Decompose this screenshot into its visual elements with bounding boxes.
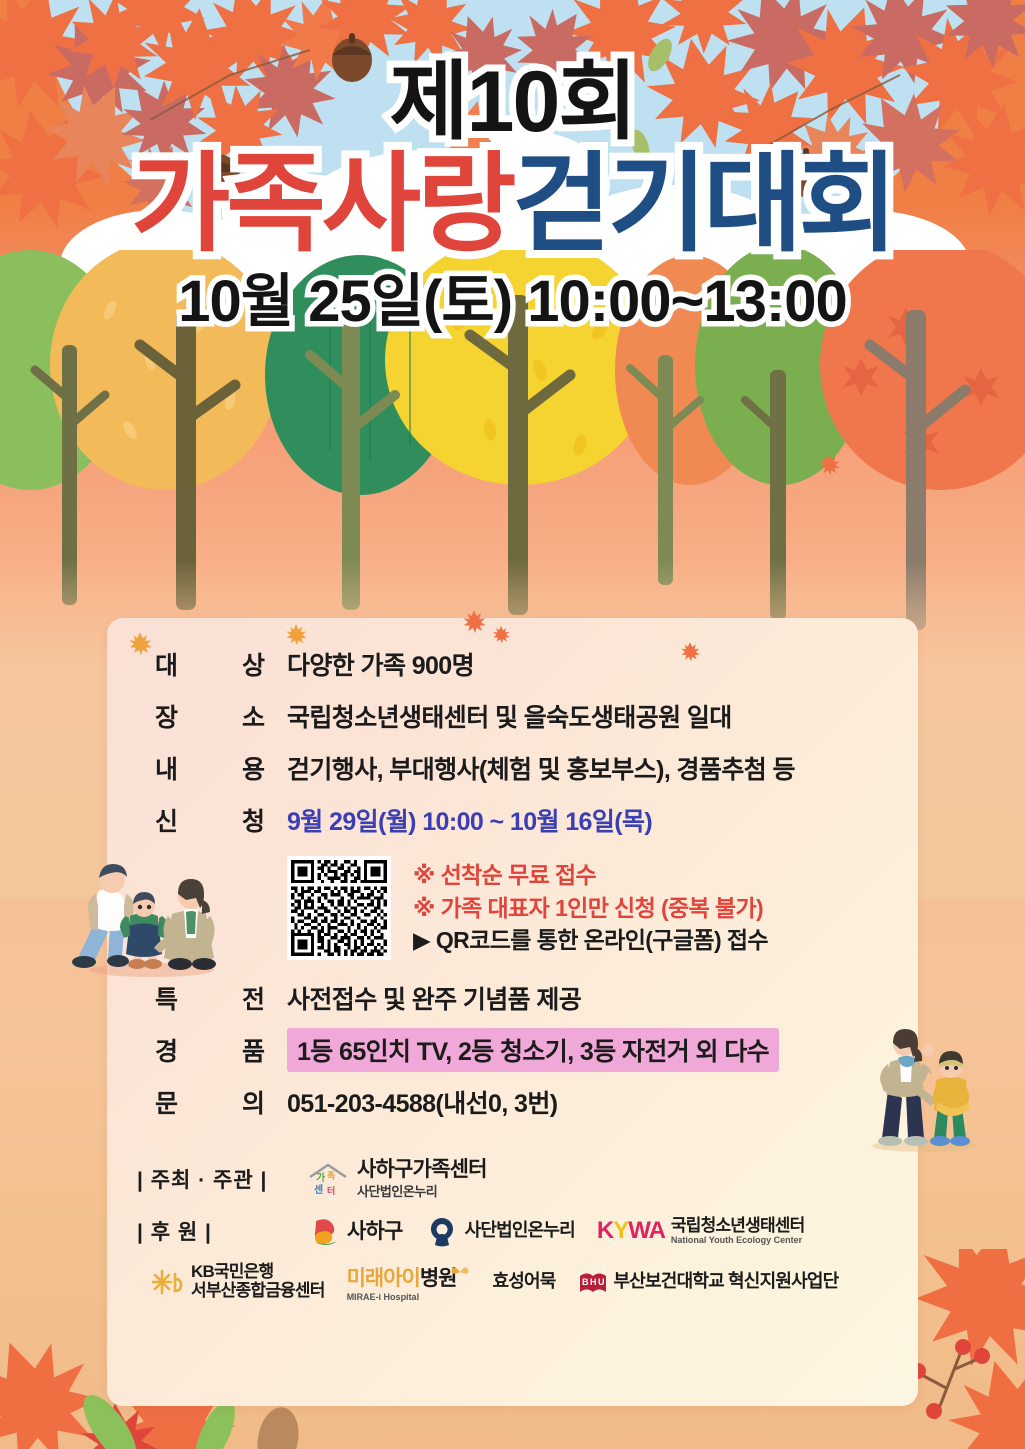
qr-note-item: ▶ QR코드를 통한 온라인(구글폼) 접수 xyxy=(413,924,768,957)
logo-name: 부산보건대학교 혁신지원사업단 xyxy=(614,1272,839,1292)
support-tag-label: | 후 원 | xyxy=(137,1216,307,1246)
info-row-target: 대 상 다양한 가족 900명 xyxy=(137,642,897,686)
label-char-a: 장 xyxy=(155,698,178,734)
sponsor-section: | 주최 · 주관 | 가 족 센 터 사하구가족센터 사단법인온누리 xyxy=(137,1158,897,1316)
qr-code[interactable] xyxy=(287,856,391,960)
logo-subname-en: National Youth Ecology Center xyxy=(671,1235,805,1245)
qr-notes: ※ 선착순 무료 접수 ※ 가족 대표자 1인만 신청 (중복 불가) ▶ QR… xyxy=(413,859,768,957)
logo-name: 사하구가족센터 xyxy=(357,1158,487,1181)
label-char-b: 의 xyxy=(242,1084,265,1120)
qr-registration-block: ※ 선착순 무료 접수 ※ 가족 대표자 1인만 신청 (중복 불가) ▶ QR… xyxy=(287,856,897,960)
bhu-logo-icon: B H U xyxy=(578,1268,608,1296)
qr-note-text: 가족 대표자 1인만 신청 (중복 불가) xyxy=(441,895,764,921)
title-main-part2: 걷기대회 xyxy=(513,143,894,264)
logo-sahagu-family-center: 가 족 센 터 사하구가족센터 사단법인온누리 xyxy=(307,1158,487,1200)
logo-name: KB국민은행 xyxy=(191,1263,325,1282)
logo-kywa: KYWA 국립청소년생태센터 National Youth Ecology Ce… xyxy=(597,1217,805,1246)
info-row-value: 걷기행사, 부대행사(체험 및 홍보부스), 경품추첨 등 xyxy=(287,750,795,786)
logo-subname-en: MIRAE-i Hospital xyxy=(347,1292,457,1302)
onnuri-logo-icon xyxy=(425,1214,459,1248)
svg-text:U: U xyxy=(598,1277,605,1287)
support-row-2: KB국민은행 서부산종합금융센터 미래아이병원 MIRAE-i Hospital xyxy=(151,1262,897,1302)
logo-name: 미래아이병원 xyxy=(347,1262,457,1292)
info-row-label: 특 전 xyxy=(137,980,287,1016)
logo-kb-bank: KB국민은행 서부산종합금융센터 xyxy=(151,1263,325,1300)
info-row-label: 문 의 xyxy=(137,1084,287,1120)
logo-name: 사하구 xyxy=(347,1220,403,1243)
info-row-benefit: 특 전 사전접수 및 완주 기념품 제공 xyxy=(137,976,897,1020)
title-main: 가족사랑걷기대회 xyxy=(0,150,1025,258)
label-char-b: 전 xyxy=(242,980,265,1016)
info-row-value: 국립청소년생태센터 및 을숙도생태공원 일대 xyxy=(287,698,732,734)
asterisk-mark-icon: ※ xyxy=(413,862,435,888)
house-logo-icon: 가 족 센 터 xyxy=(307,1162,349,1196)
info-row-label: 신 청 xyxy=(137,802,287,838)
label-char-b: 용 xyxy=(242,750,265,786)
label-char-b: 품 xyxy=(242,1032,265,1068)
label-char-b: 소 xyxy=(242,698,265,734)
triangle-right-icon: ▶ xyxy=(413,927,430,953)
svg-text:터: 터 xyxy=(327,1185,335,1196)
info-row-value: 051-203-4588(내선0, 3번) xyxy=(287,1084,557,1120)
info-row-prize: 경 품 1등 65인치 TV, 2등 청소기, 3등 자전거 외 다수 xyxy=(137,1028,897,1072)
svg-text:H: H xyxy=(590,1277,597,1287)
svg-text:족: 족 xyxy=(327,1171,335,1181)
label-char-a: 경 xyxy=(155,1032,178,1068)
logo-subname: 사단법인온누리 xyxy=(357,1181,487,1200)
info-rows: 대 상 다양한 가족 900명 장 소 국립청소년생태센터 및 을숙도생태공원 … xyxy=(137,642,897,1132)
info-row-value: 사전접수 및 완주 기념품 제공 xyxy=(287,980,581,1016)
event-date-time: 10월 25일(토) 10:00~13:00 xyxy=(0,272,1025,333)
logo-name: 효성어묵 xyxy=(492,1272,555,1292)
label-char-a: 특 xyxy=(155,980,178,1016)
logo-onnuri: 사단법인온누리 xyxy=(425,1214,575,1248)
qr-code-icon xyxy=(291,860,387,956)
poster-headline: 제10회 가족사랑걷기대회 10월 25일(토) 10:00~13:00 xyxy=(0,0,1025,333)
info-row-content: 내 용 걷기행사, 부대행사(체험 및 홍보부스), 경품추첨 등 xyxy=(137,746,897,790)
label-char-a: 내 xyxy=(155,750,178,786)
butterfly-icon xyxy=(450,1262,470,1282)
support-row-1: | 후 원 | 사하구 사단법인온누리 xyxy=(137,1214,897,1248)
poster-root: 제10회 가족사랑걷기대회 10월 25일(토) 10:00~13:00 xyxy=(0,0,1025,1449)
kb-logo-icon xyxy=(151,1267,185,1297)
qr-note-item: ※ 선착순 무료 접수 xyxy=(413,859,768,892)
info-row-value: 9월 29일(월) 10:00 ~ 10월 16일(목) xyxy=(287,802,652,838)
info-row-value: 다양한 가족 900명 xyxy=(287,646,474,682)
info-card: 대 상 다양한 가족 900명 장 소 국립청소년생태센터 및 을숙도생태공원 … xyxy=(107,618,918,1406)
host-tag-label: | 주최 · 주관 | xyxy=(137,1164,307,1194)
title-ordinal: 제10회 xyxy=(0,62,1025,144)
qr-note-item: ※ 가족 대표자 1인만 신청 (중복 불가) xyxy=(413,892,768,925)
info-row-label: 내 용 xyxy=(137,750,287,786)
svg-text:B: B xyxy=(582,1277,589,1287)
logo-sahagu: 사하구 xyxy=(307,1214,403,1248)
svg-text:센: 센 xyxy=(314,1183,323,1196)
host-row: | 주최 · 주관 | 가 족 센 터 사하구가족센터 사단법인온누리 xyxy=(137,1158,897,1200)
logo-mirae-hospital: 미래아이병원 MIRAE-i Hospital xyxy=(347,1262,471,1302)
info-row-label: 장 소 xyxy=(137,698,287,734)
qr-note-text: 선착순 무료 접수 xyxy=(441,862,597,888)
family-illustration-right xyxy=(862,1024,992,1152)
family-illustration-left xyxy=(72,858,232,978)
label-char-a: 신 xyxy=(155,802,178,838)
kywa-brandmark: KYWA xyxy=(597,1217,665,1245)
info-row-label: 대 상 xyxy=(137,646,287,682)
sahagu-logo-icon xyxy=(307,1214,341,1248)
label-char-b: 상 xyxy=(242,646,265,682)
logo-subname: 서부산종합금융센터 xyxy=(191,1282,325,1301)
qr-note-text: QR코드를 통한 온라인(구글폼) 접수 xyxy=(436,927,768,953)
svg-text:가: 가 xyxy=(316,1171,326,1184)
asterisk-mark-icon: ※ xyxy=(413,895,435,921)
info-row-apply: 신 청 9월 29일(월) 10:00 ~ 10월 16일(목) xyxy=(137,798,897,842)
logo-hyosung-eomuk: 효성어묵 xyxy=(492,1272,555,1292)
title-main-part1: 가족사랑 xyxy=(131,143,512,264)
info-row-value: 1등 65인치 TV, 2등 청소기, 3등 자전거 외 다수 xyxy=(287,1028,779,1072)
label-char-b: 청 xyxy=(242,802,265,838)
label-char-a: 문 xyxy=(155,1084,178,1120)
mirae-part-colored: 미래아이 xyxy=(347,1267,420,1290)
info-row-label: 경 품 xyxy=(137,1032,287,1068)
logo-bhu: B H U 부산보건대학교 혁신지원사업단 xyxy=(578,1268,839,1296)
logo-name: 국립청소년생태센터 xyxy=(671,1217,805,1236)
info-row-contact: 문 의 051-203-4588(내선0, 3번) xyxy=(137,1080,897,1124)
info-row-place: 장 소 국립청소년생태센터 및 을숙도생태공원 일대 xyxy=(137,694,897,738)
label-char-a: 대 xyxy=(155,646,178,682)
logo-name: 사단법인온누리 xyxy=(465,1221,575,1241)
